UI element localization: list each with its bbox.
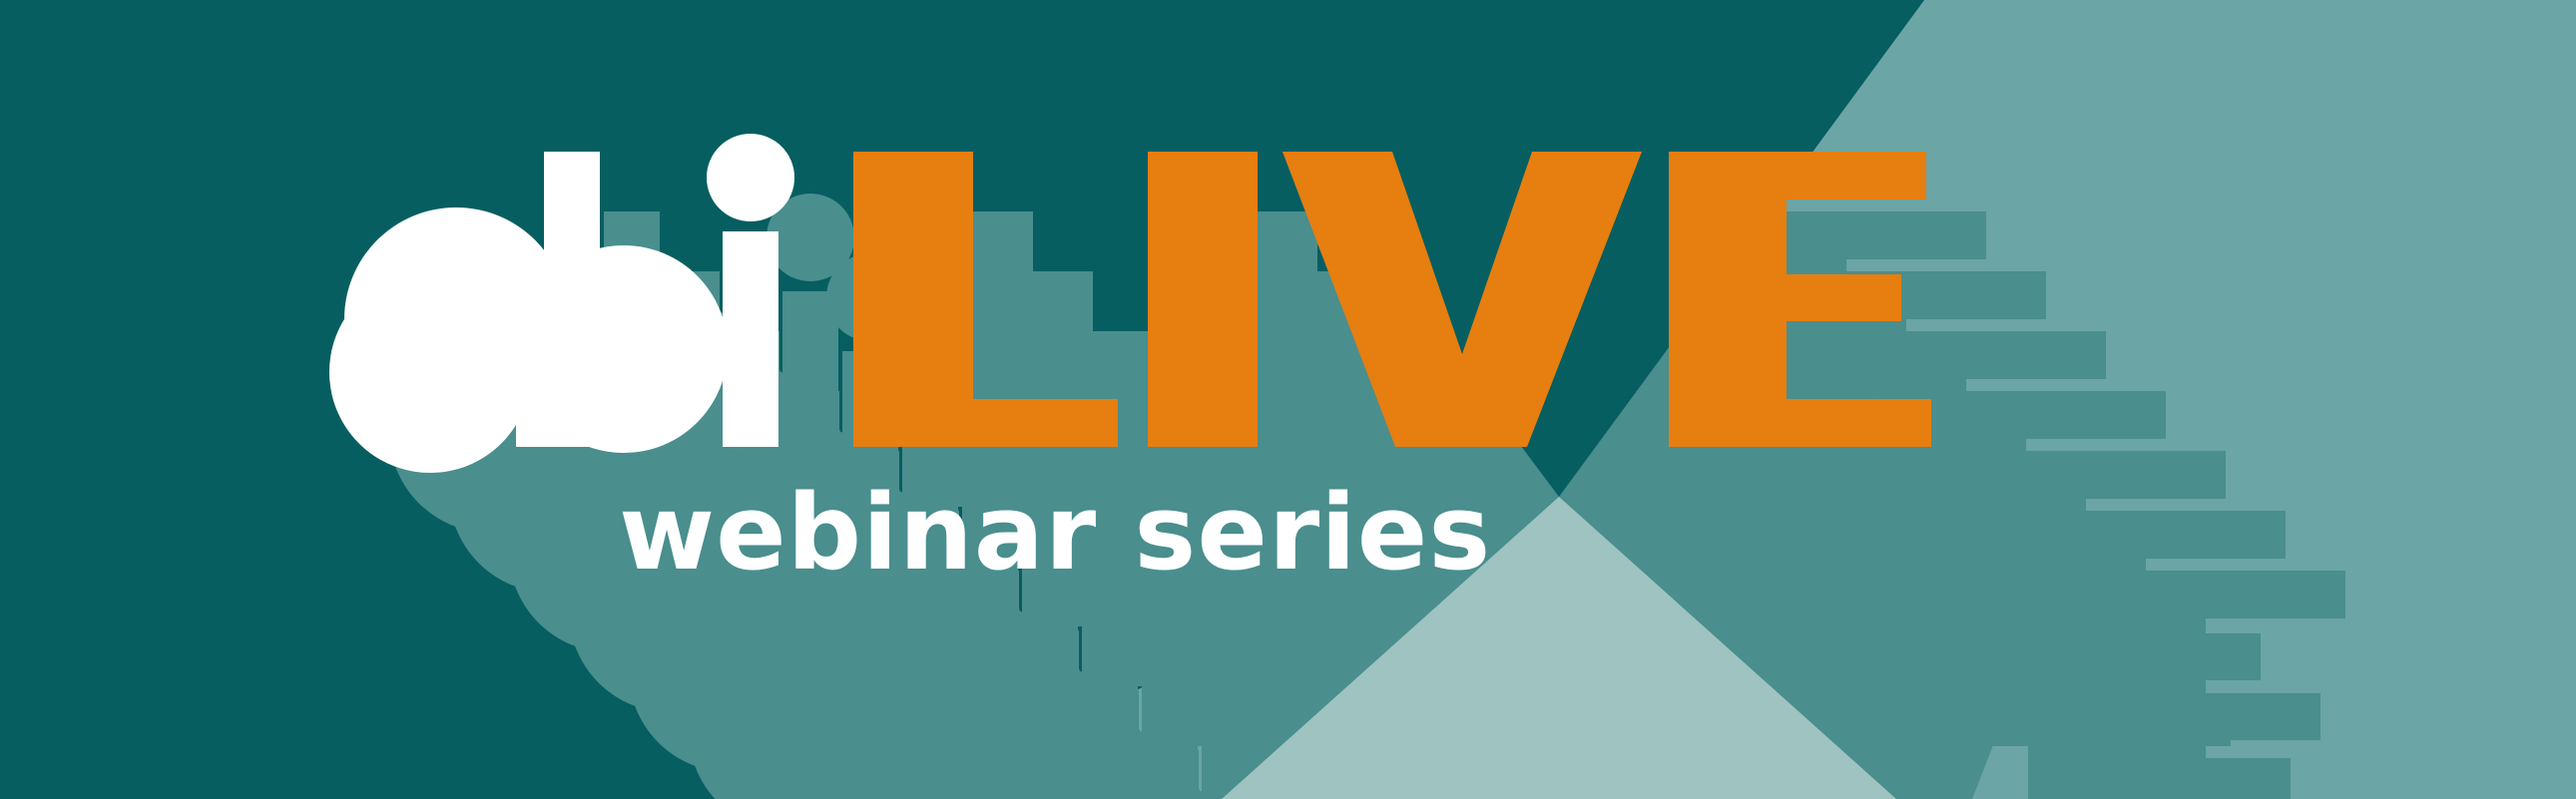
tagline-webinar-series: webinar series	[619, 472, 1491, 594]
banner-artwork: webinar series	[0, 0, 2576, 799]
abilive-banner: webinar series abi LIVE abiLIVE webinar …	[0, 0, 2576, 799]
